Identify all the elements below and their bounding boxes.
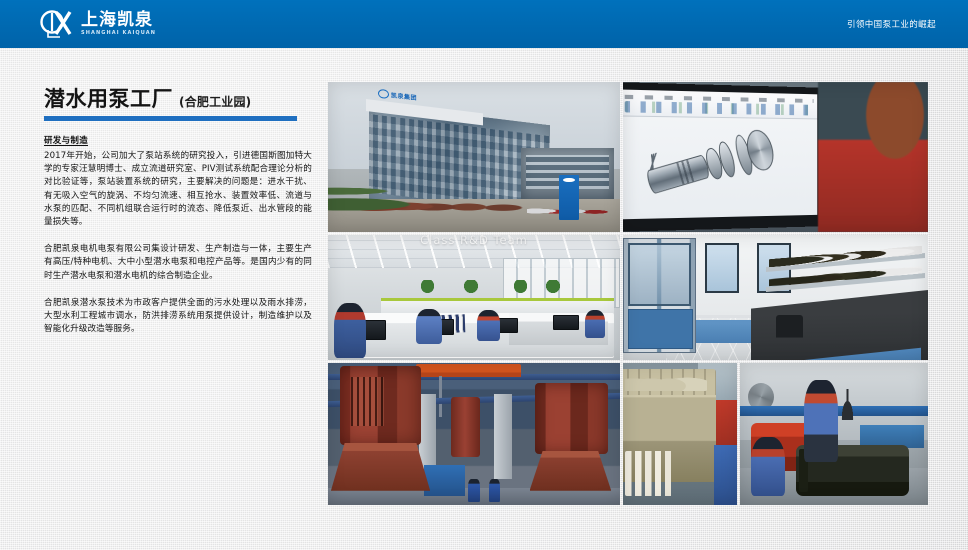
photo-laboratory (623, 235, 928, 360)
building-banner (559, 175, 579, 220)
title-underline-rule (44, 116, 297, 121)
collage-row-3 (328, 363, 928, 505)
body-paragraph-2: 合肥凯泉电机电泵有限公司集设计研发、生产制造与一体，主要生产有高压/特种电机、大… (44, 243, 312, 283)
office-overlay-text: Class R&D Team (369, 235, 579, 250)
company-logo[interactable]: 上海凯泉 SHANGHAI KAIQUAN (40, 9, 156, 39)
kaiquan-monogram-icon (40, 9, 74, 39)
photo-cad-design (623, 82, 928, 232)
body-paragraph-3: 合肥凯泉潜水泵技术为市政客户提供全面的污水处理以及雨水排涝，大型水利工程城市调水… (44, 297, 312, 337)
content-text-column: 潜水用泵工厂 (合肥工业园) 研发与制造 2017年开始，公司加大了泵站系统的研… (44, 86, 312, 336)
collage-row-1: 凯泉集团 (328, 82, 928, 232)
photo-rd-office: Class R&D Team (328, 235, 620, 360)
page-subtitle: (合肥工业园) (179, 93, 251, 110)
building-sign-text: 凯泉集团 (391, 90, 417, 102)
page-title: 潜水用泵工厂 (44, 86, 173, 112)
header-tagline: 引领中国泵工业的崛起 (847, 18, 936, 30)
building-logo-icon (378, 88, 389, 98)
photo-pump-assembly (328, 363, 620, 505)
body-paragraph-1: 2017年开始，公司加大了泵站系统的研究投入，引进德国斯图加特大学的专家汪慧明博… (44, 150, 312, 229)
page-header: 上海凯泉 SHANGHAI KAIQUAN 引领中国泵工业的崛起 (0, 0, 968, 48)
slide-title: 潜水用泵工厂 (合肥工业园) (44, 86, 312, 112)
collage-row-2: Class R&D Team (328, 235, 928, 360)
photo-collage: 凯泉集团 (328, 82, 928, 505)
photo-engine (623, 363, 737, 505)
section-heading: 研发与制造 (44, 134, 312, 146)
photo-factory-building: 凯泉集团 (328, 82, 620, 232)
photo-workers (740, 363, 928, 505)
logo-company-name-en: SHANGHAI KAIQUAN (81, 30, 156, 37)
logo-company-name-cn: 上海凯泉 (81, 11, 156, 29)
